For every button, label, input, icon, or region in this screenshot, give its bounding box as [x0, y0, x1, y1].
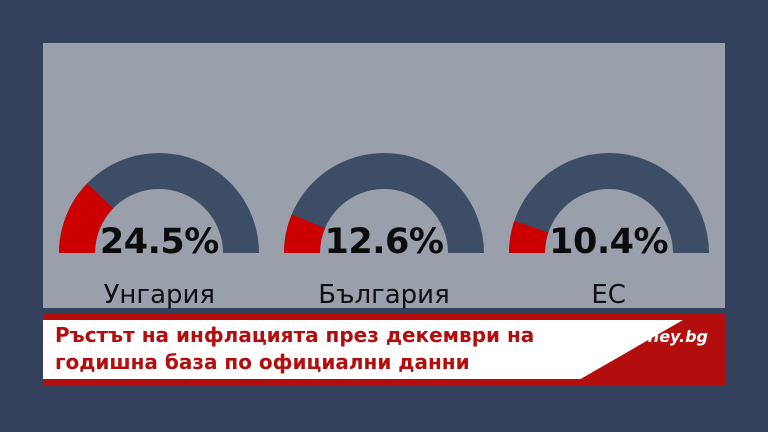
gauge-hungary-label: Унгария — [104, 282, 215, 308]
gauge-eu: 10.4% — [504, 148, 714, 256]
gauge-eu-label: ЕС — [591, 282, 626, 308]
gauge-hungary-value: 24.5% — [54, 225, 264, 260]
brand-logo-moneybg: money.bg — [620, 329, 708, 345]
gauge-item-bulgaria: 12.6% България — [273, 73, 495, 308]
infographic-root: 24.5% Унгария 12.6% България — [0, 0, 768, 432]
gauge-item-hungary: 24.5% Унгария — [48, 73, 270, 308]
caption-line-1: Ръстът на инфлацията през декември на — [55, 322, 575, 349]
gauge-eu-value: 10.4% — [504, 225, 714, 260]
gauge-hungary: 24.5% — [54, 148, 264, 256]
gauge-item-eu: 10.4% ЕС — [498, 73, 720, 308]
gauge-row: 24.5% Унгария 12.6% България — [43, 43, 725, 308]
gauge-bulgaria: 12.6% — [279, 148, 489, 256]
gauge-bulgaria-label: България — [318, 282, 449, 308]
caption-line-2: годишна база по официални данни — [55, 349, 575, 376]
caption-text: Ръстът на инфлацията през декември на го… — [55, 322, 575, 376]
gauge-bulgaria-value: 12.6% — [279, 225, 489, 260]
chart-panel: 24.5% Унгария 12.6% България — [43, 43, 725, 308]
caption-banner: Ръстът на инфлацията през декември на го… — [43, 314, 725, 385]
